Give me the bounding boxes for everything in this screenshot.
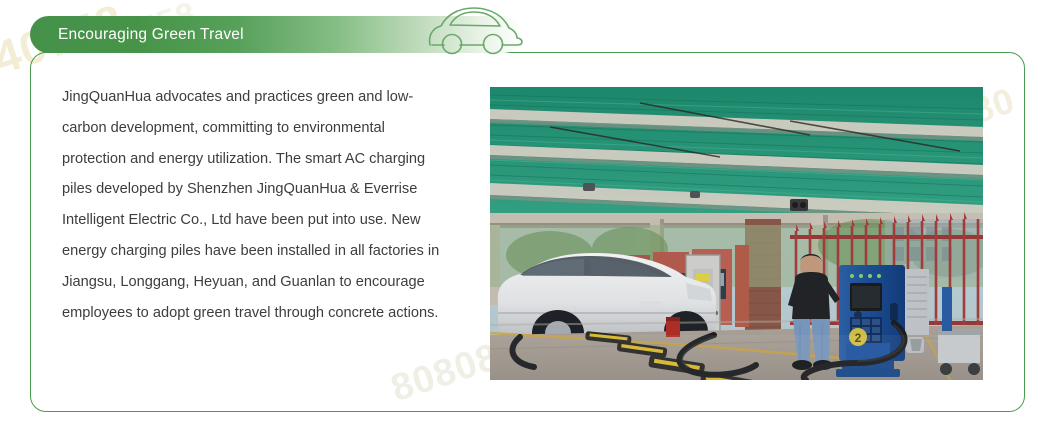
page-title: Encouraging Green Travel <box>58 26 244 44</box>
car-icon <box>424 4 528 56</box>
body-paragraph: JingQuanHua advocates and practices gree… <box>62 82 452 328</box>
body-paragraph-text: JingQuanHua advocates and practices gree… <box>62 82 452 328</box>
ev-charging-station-photo: 2 <box>490 87 983 380</box>
